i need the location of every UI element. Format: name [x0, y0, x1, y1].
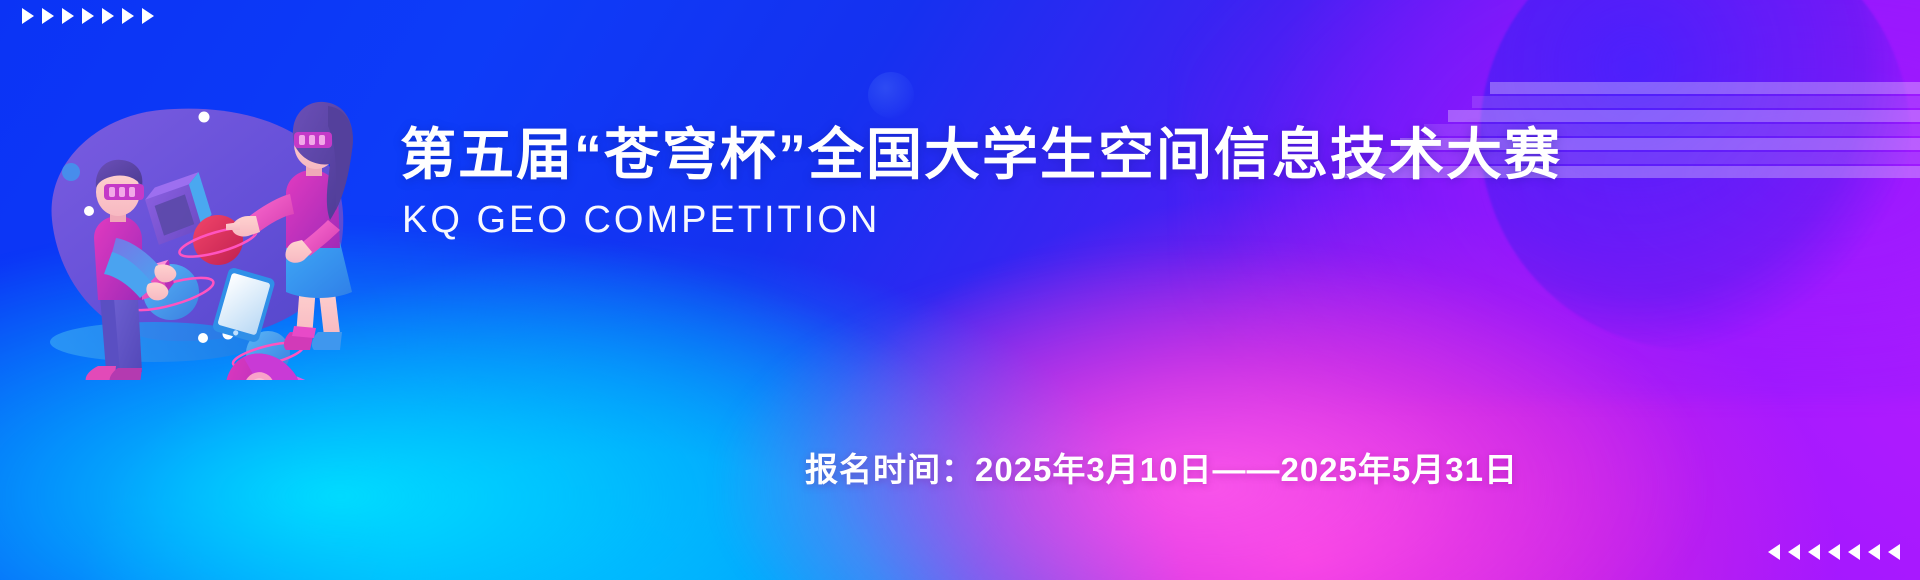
bottom-right-arrow-strip	[1768, 544, 1900, 560]
star-dot	[84, 206, 94, 216]
triangle-left-icon	[1868, 544, 1880, 560]
triangle-left-icon	[1768, 544, 1780, 560]
star-dot	[62, 163, 80, 181]
triangle-right-icon	[22, 8, 34, 24]
vr-students-space-illustration	[28, 70, 358, 380]
star-dot	[198, 333, 208, 343]
triangle-left-icon	[1808, 544, 1820, 560]
triangle-right-icon	[82, 8, 94, 24]
registration-dateline: 报名时间：2025年3月10日——2025年5月31日	[805, 443, 1518, 491]
triangle-right-icon	[102, 8, 114, 24]
competition-banner: 第五届“苍穹杯”全国大学生空间信息技术大赛 KQ GEO COMPETITION…	[0, 0, 1920, 580]
triangle-right-icon	[122, 8, 134, 24]
triangle-right-icon	[142, 8, 154, 24]
triangle-left-icon	[1888, 544, 1900, 560]
sphere-small-icon	[868, 72, 914, 118]
triangle-left-icon	[1828, 544, 1840, 560]
banner-copy: 第五届“苍穹杯”全国大学生空间信息技术大赛 KQ GEO COMPETITION	[400, 124, 1562, 242]
page-title: 第五届“苍穹杯”全国大学生空间信息技术大赛	[400, 124, 1562, 187]
star-dot	[199, 112, 210, 123]
triangle-left-icon	[1848, 544, 1860, 560]
pink-glow	[720, 250, 1700, 580]
triangle-left-icon	[1788, 544, 1800, 560]
banner-subtitle: KQ GEO COMPETITION	[402, 199, 1562, 242]
triangle-right-icon	[42, 8, 54, 24]
triangle-right-icon	[62, 8, 74, 24]
top-left-arrow-strip	[22, 8, 154, 24]
